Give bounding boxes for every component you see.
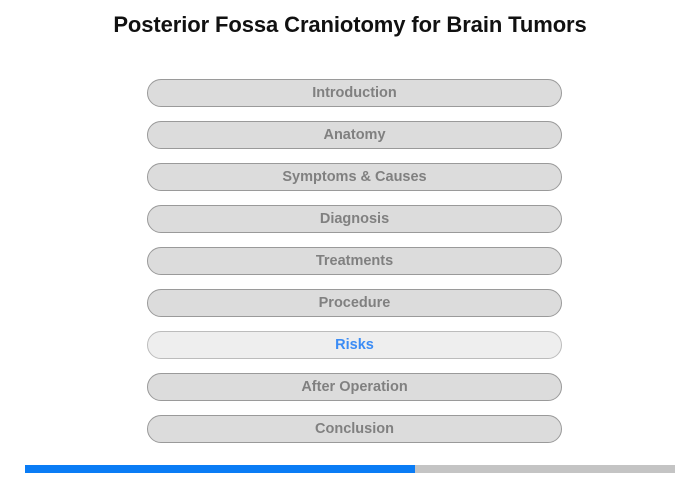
page-title: Posterior Fossa Craniotomy for Brain Tum… — [0, 12, 700, 38]
nav-item-after-operation[interactable]: After Operation — [147, 373, 562, 401]
nav-item-procedure[interactable]: Procedure — [147, 289, 562, 317]
nav-item-label: Introduction — [148, 80, 561, 106]
progress-bar-fill — [25, 465, 415, 473]
nav-item-treatments[interactable]: Treatments — [147, 247, 562, 275]
nav-item-label: Conclusion — [148, 416, 561, 442]
nav-item-symptoms-causes[interactable]: Symptoms & Causes — [147, 163, 562, 191]
nav-item-introduction[interactable]: Introduction — [147, 79, 562, 107]
page-root: Posterior Fossa Craniotomy for Brain Tum… — [0, 0, 700, 480]
progress-bar-track[interactable] — [25, 465, 675, 473]
nav-item-anatomy[interactable]: Anatomy — [147, 121, 562, 149]
nav-item-label: Risks — [148, 332, 561, 358]
nav-item-label: Procedure — [148, 290, 561, 316]
nav-item-label: Diagnosis — [148, 206, 561, 232]
nav-item-label: After Operation — [148, 374, 561, 400]
nav-item-label: Anatomy — [148, 122, 561, 148]
nav-item-label: Treatments — [148, 248, 561, 274]
nav-item-label: Symptoms & Causes — [148, 164, 561, 190]
nav-item-conclusion[interactable]: Conclusion — [147, 415, 562, 443]
nav-item-risks[interactable]: Risks — [147, 331, 562, 359]
nav-item-diagnosis[interactable]: Diagnosis — [147, 205, 562, 233]
section-nav-list: IntroductionAnatomySymptoms & CausesDiag… — [147, 79, 562, 443]
